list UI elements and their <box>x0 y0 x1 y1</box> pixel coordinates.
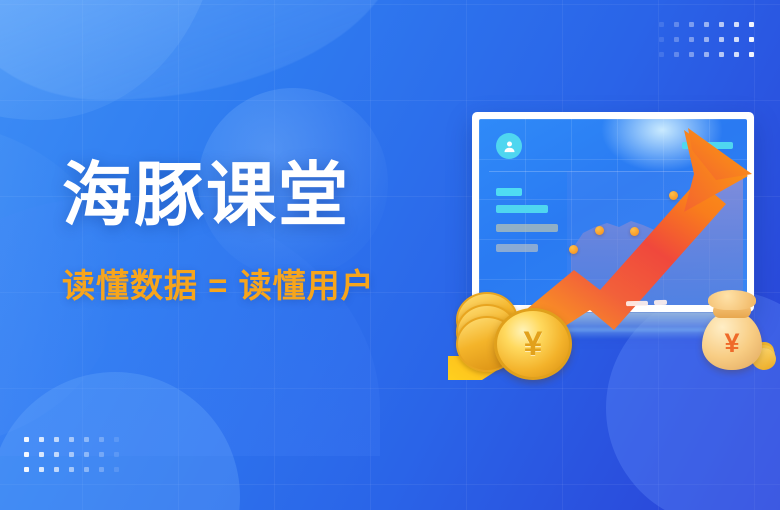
decor-dot <box>659 37 664 42</box>
chart-point-4 <box>669 191 678 200</box>
area-chart-path <box>571 179 743 305</box>
decor-dot <box>54 437 59 442</box>
header-chip-1 <box>682 142 695 149</box>
header-chip-2 <box>705 142 733 149</box>
area-chart <box>567 175 747 305</box>
decor-dot <box>39 437 44 442</box>
decor-dot <box>84 467 89 472</box>
decor-dot <box>24 452 29 457</box>
decor-dot <box>749 22 754 27</box>
decor-dot <box>114 437 119 442</box>
sidebar-bar-2 <box>496 205 548 213</box>
headline-block: 海豚课堂 读懂数据 = 读懂用户 <box>62 160 375 307</box>
decor-dot <box>24 437 29 442</box>
decor-dot <box>99 467 104 472</box>
money-bag: ¥ <box>696 290 774 380</box>
decor-dot <box>674 37 679 42</box>
decor-dot <box>674 52 679 57</box>
decor-dot <box>704 37 709 42</box>
decor-dot <box>734 37 739 42</box>
sidebar-bar-1 <box>496 188 522 196</box>
dot-grid-top-right <box>659 22 754 57</box>
decor-dot <box>99 452 104 457</box>
decor-dot <box>69 452 74 457</box>
decor-dot <box>704 22 709 27</box>
decor-dot <box>84 437 89 442</box>
user-avatar-icon <box>496 133 522 159</box>
coin-front: ¥ <box>494 308 572 380</box>
decor-dot <box>84 452 89 457</box>
chart-point-3 <box>630 227 639 236</box>
decor-dot <box>69 437 74 442</box>
decor-dot <box>719 52 724 57</box>
money-bag-body: ¥ <box>702 312 762 370</box>
coin-yen-symbol: ¥ <box>524 327 543 361</box>
arrow-dash-1 <box>626 301 648 306</box>
decor-dot <box>749 52 754 57</box>
decor-dot <box>54 452 59 457</box>
decor-dot <box>674 22 679 27</box>
promo-banner: 海豚课堂 读懂数据 = 读懂用户 <box>0 0 780 510</box>
decor-dot <box>719 37 724 42</box>
decor-dot <box>659 22 664 27</box>
decor-dot <box>69 467 74 472</box>
decor-dot <box>704 52 709 57</box>
decor-dot <box>114 467 119 472</box>
dashboard-screen <box>479 119 747 305</box>
sidebar-bar-3 <box>496 224 558 232</box>
decor-dot <box>24 467 29 472</box>
page-title: 海豚课堂 <box>62 160 375 231</box>
decor-dot <box>39 467 44 472</box>
decor-dot <box>689 37 694 42</box>
page-subtitle: 读懂数据 = 读懂用户 <box>62 259 375 307</box>
decor-dot <box>719 22 724 27</box>
decor-dot <box>659 52 664 57</box>
money-bag-top <box>708 290 756 310</box>
money-bag-yen-symbol: ¥ <box>724 330 739 357</box>
decor-dot <box>39 452 44 457</box>
decor-dot <box>734 22 739 27</box>
decor-dot <box>114 452 119 457</box>
gold-coins: ¥ <box>450 280 580 380</box>
decor-dot <box>689 22 694 27</box>
hero-illustration: ¥ ¥ <box>448 84 780 404</box>
chart-point-1 <box>569 245 578 254</box>
decor-dot <box>734 52 739 57</box>
chart-point-2 <box>595 226 604 235</box>
decor-dot <box>99 437 104 442</box>
decor-dot <box>749 37 754 42</box>
decor-dot <box>689 52 694 57</box>
decor-dot <box>54 467 59 472</box>
dot-grid-bottom-left <box>24 437 119 472</box>
sidebar-bar-4 <box>496 244 538 252</box>
arrow-dash-2 <box>654 300 667 305</box>
